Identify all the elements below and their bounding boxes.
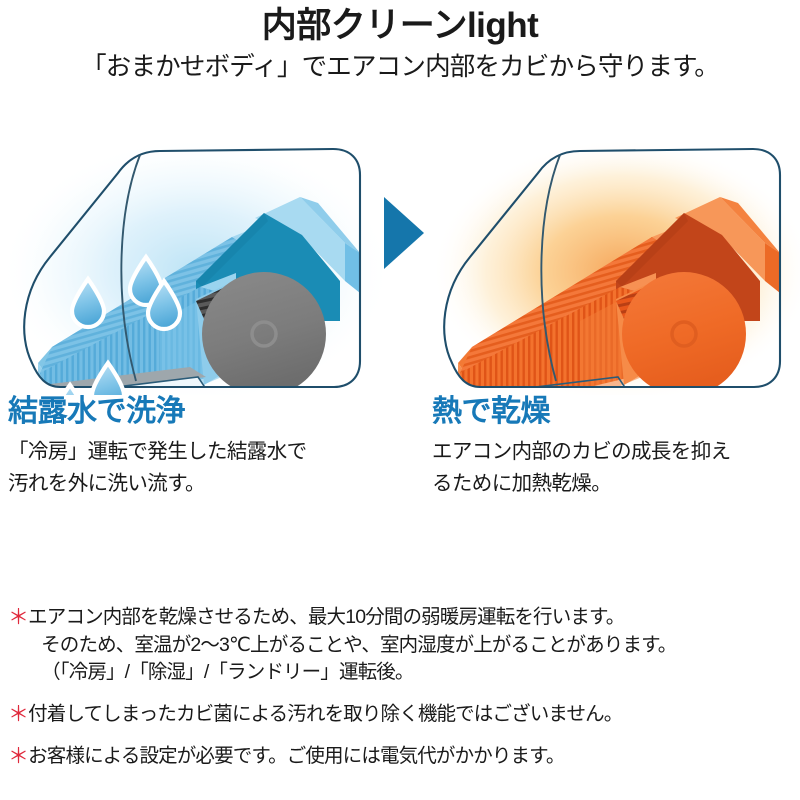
- asterisk-icon: ＊: [8, 604, 28, 632]
- footnote-item: ＊ エアコン内部を乾燥させるため、最大10分間の弱暖房運転を行います。 そのため…: [8, 604, 798, 687]
- footnote-text: 付着してしまったカビ菌による汚れを取り除く機能ではございません。: [28, 701, 798, 729]
- heating-unit-illustration: [432, 139, 800, 395]
- caption-body-heat-dry: エアコン内部のカビの成長を抑え るために加熱乾燥。: [432, 436, 800, 500]
- page-title: 内部クリーンlight: [0, 6, 800, 45]
- caption-body-line: 「冷房」運転で発生した結露水で: [8, 436, 408, 468]
- footnote-text: お客様による設定が必要です。ご使用には電気代がかかります。: [28, 743, 798, 771]
- caption-heat-dry: 熱で乾燥 エアコン内部のカビの成長を抑え るために加熱乾燥。: [432, 395, 800, 499]
- caption-body-condensate-wash: 「冷房」運転で発生した結露水で 汚れを外に洗い流す。: [8, 436, 408, 500]
- page-subtitle: 「おまかせボディ」でエアコン内部をカビから守ります。: [0, 53, 800, 81]
- page-header: 内部クリーンlight 「おまかせボディ」でエアコン内部をカビから守ります。: [0, 0, 800, 81]
- footnote-line: お客様による設定が必要です。ご使用には電気代がかかります。: [28, 743, 798, 771]
- illustration-area: [0, 85, 800, 395]
- asterisk-icon: ＊: [8, 701, 28, 729]
- caption-body-line: るために加熱乾燥。: [432, 468, 800, 500]
- footnotes: ＊ エアコン内部を乾燥させるため、最大10分間の弱暖房運転を行います。 そのため…: [8, 604, 798, 771]
- footnote-line: 付着してしまったカビ菌による汚れを取り除く機能ではございません。: [28, 701, 798, 729]
- asterisk-icon: ＊: [8, 743, 28, 771]
- footnote-item: ＊ 付着してしまったカビ菌による汚れを取り除く機能ではございません。: [8, 701, 798, 729]
- footnote-line: エアコン内部を乾燥させるため、最大10分間の弱暖房運転を行います。: [28, 604, 798, 632]
- caption-heading-condensate-wash: 結露水で洗浄: [8, 395, 408, 429]
- caption-condensate-wash: 結露水で洗浄 「冷房」運転で発生した結露水で 汚れを外に洗い流す。: [8, 395, 408, 499]
- process-illustration-svg: [0, 85, 800, 395]
- cooling-unit-illustration: [0, 137, 392, 395]
- process-arrow: [384, 197, 424, 269]
- caption-body-line: 汚れを外に洗い流す。: [8, 468, 408, 500]
- caption-body-line: エアコン内部のカビの成長を抑え: [432, 436, 800, 468]
- footnote-line: そのため、室温が2～3℃上がることや、室内湿度が上がることがあります。: [28, 632, 798, 660]
- captions-row: 結露水で洗浄 「冷房」運転で発生した結露水で 汚れを外に洗い流す。 熱で乾燥 エ…: [0, 395, 800, 555]
- caption-heading-heat-dry: 熱で乾燥: [432, 395, 800, 429]
- footnote-text: エアコン内部を乾燥させるため、最大10分間の弱暖房運転を行います。 そのため、室…: [28, 604, 798, 687]
- footnote-line: （「冷房」/「除湿」/「ランドリー」運転後。: [28, 659, 798, 687]
- footnote-item: ＊ お客様による設定が必要です。ご使用には電気代がかかります。: [8, 743, 798, 771]
